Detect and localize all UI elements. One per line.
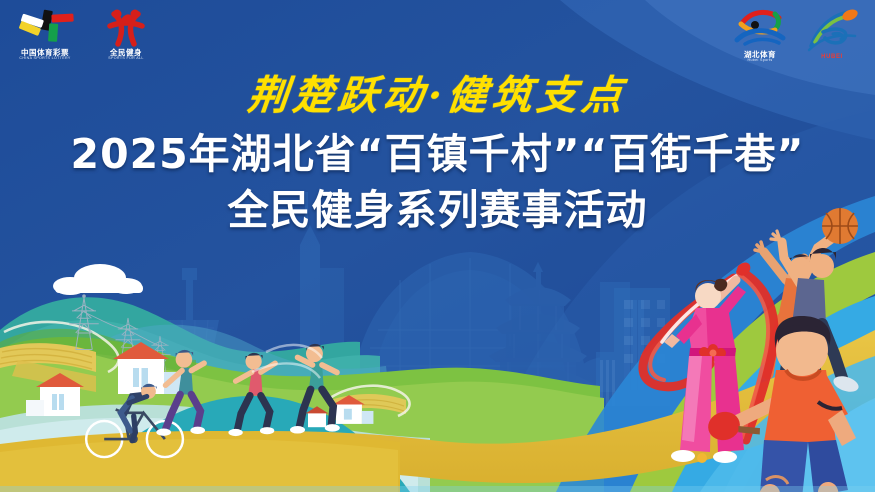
logo-sports-for-all[interactable]: 全民健身 SPORTS FOR ALL	[98, 8, 154, 61]
ping-pong-ball	[697, 453, 707, 463]
hubei-sports-mark	[729, 8, 791, 50]
logo-hubei-tourism[interactable]: HUBEI	[803, 8, 861, 60]
hubei-tourism-mark	[803, 8, 861, 54]
logo-label-en: CHINA SPORTS LOTTERY	[19, 57, 70, 61]
poster-canvas: 中国体育彩票 CHINA SPORTS LOTTERY 全民健身 SPORTS …	[0, 0, 875, 492]
china-sports-lottery-mark	[12, 8, 78, 48]
logo-hubei-sports[interactable]: 湖北体育 Hubei Sports	[729, 8, 791, 63]
title-line-1: 2025年湖北省“百镇千村”“百街千巷”	[0, 128, 875, 180]
logo-label-en: SPORTS FOR ALL	[108, 57, 143, 61]
sports-for-all-mark	[98, 8, 154, 48]
logo-group-left: 中国体育彩票 CHINA SPORTS LOTTERY 全民健身 SPORTS …	[12, 8, 154, 61]
headline-block: 荆楚跃动·健筑支点 2025年湖北省“百镇千村”“百街千巷” 全民健身系列赛事活…	[0, 76, 875, 237]
slogan-text: 荆楚跃动·健筑支点	[246, 76, 629, 116]
logo-label-en: HUBEI	[821, 54, 843, 60]
title-line-2: 全民健身系列赛事活动	[0, 184, 875, 236]
logo-label-en: Hubei Sports	[748, 59, 773, 63]
logo-group-right: 湖北体育 Hubei Sports HUBEI	[729, 8, 861, 63]
logo-china-sports-lottery[interactable]: 中国体育彩票 CHINA SPORTS LOTTERY	[12, 8, 78, 61]
